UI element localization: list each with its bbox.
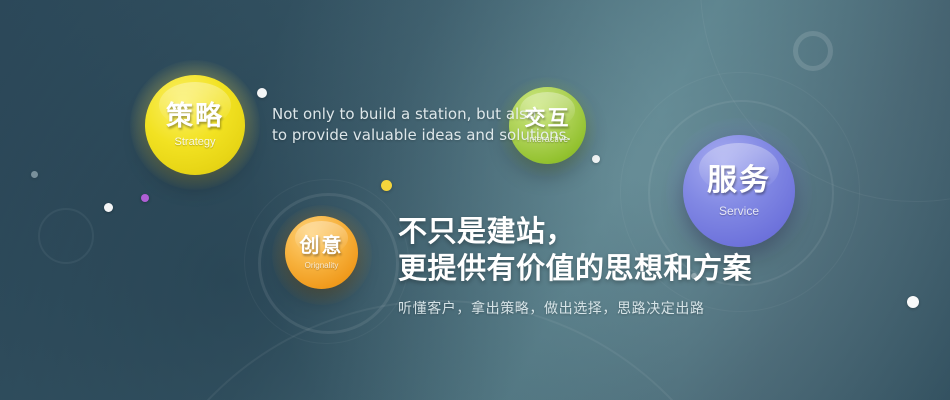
decor-ring-small-top-right [793,31,833,71]
tagline-line-1: Not only to build a station, but also [272,104,532,125]
decor-ring-left [38,208,94,264]
bubble-strategy-cn-label: 策略 [166,103,224,130]
promo-banner: 策略 Strategy 交互 Interactive 创意 Orignality… [0,0,950,400]
decor-dot [104,203,113,212]
decor-dot [592,155,600,163]
decor-dot [141,194,149,202]
bubble-service-cn-label: 服务 [707,166,771,196]
bubble-originality-cn-label: 创意 [300,236,344,256]
headline-line-1: 不只是建站， [398,214,758,251]
decor-dot [31,171,38,178]
headline-block: 不只是建站， 更提供有价值的思想和方案 听懂客户，拿出策略，做出选择，思路决定出… [398,214,758,318]
bubble-interactive-en-label: Interactive [527,135,569,144]
headline-subtitle: 听懂客户，拿出策略，做出选择，思路决定出路 [398,298,758,318]
bubble-originality[interactable]: 创意 Orignality [285,216,358,289]
headline-line-2: 更提供有价值的思想和方案 [398,251,758,288]
bubble-interactive-cn-label: 交互 [525,108,571,129]
bubble-strategy[interactable]: 策略 Strategy [145,75,245,175]
tagline-line-2: to provide valuable ideas and solutions. [272,125,532,146]
bubble-service-en-label: Service [719,205,759,217]
english-tagline: Not only to build a station, but also to… [272,104,532,147]
bubble-originality-en-label: Orignality [305,262,339,270]
bubble-strategy-en-label: Strategy [175,137,216,148]
decor-dot [907,296,919,308]
decor-dot [381,180,392,191]
decor-dot [257,88,267,98]
